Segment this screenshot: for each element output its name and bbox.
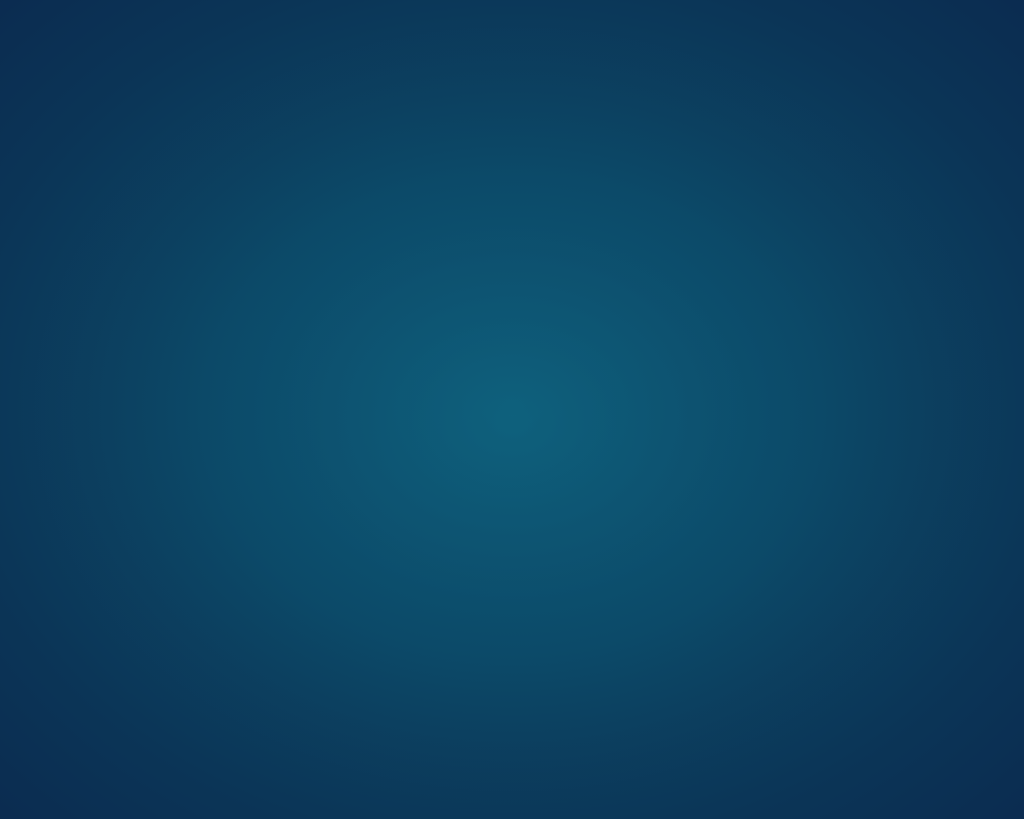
funnel-diagram: [0, 0, 1024, 819]
funnel-diagram-canvas: [0, 0, 1024, 819]
background-glow: [12, 20, 1012, 819]
